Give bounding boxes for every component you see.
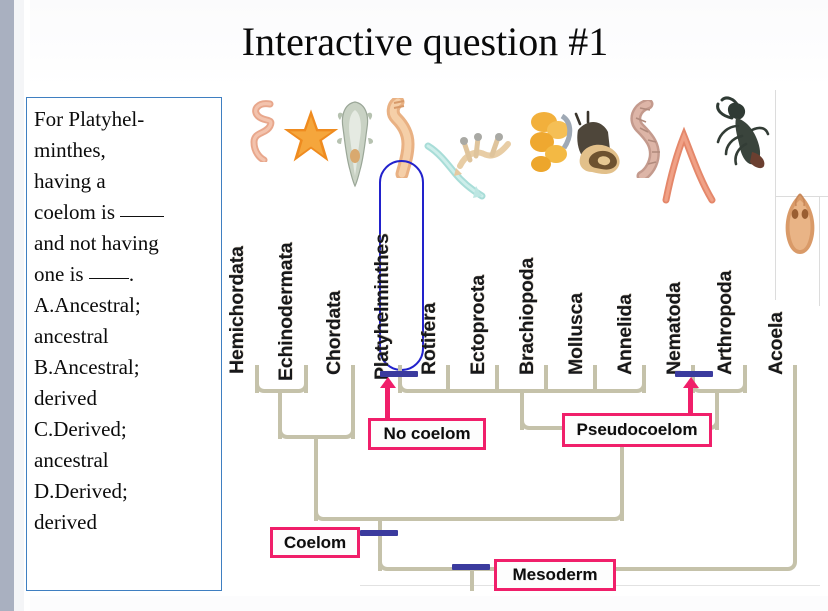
node-b-stem xyxy=(314,439,318,521)
root-stem-mesoderm xyxy=(470,571,474,591)
arrow-shaft-no-coelom xyxy=(385,386,390,418)
node-d-crossbar xyxy=(701,389,737,393)
callout-mesoderm[interactable]: Mesoderm xyxy=(494,559,616,591)
node-f-crossbar xyxy=(324,517,614,521)
cladogram-branches xyxy=(0,0,828,611)
arrow-head-pseudocoelom xyxy=(683,377,699,388)
callout-pseudocoelom[interactable]: Pseudocoelom xyxy=(562,413,712,447)
callout-coelom[interactable]: Coelom xyxy=(270,527,360,558)
arrow-head-no-coelom xyxy=(380,377,396,388)
stem-acoela xyxy=(793,365,797,561)
tick-coelom xyxy=(360,530,398,536)
callout-no-coelom[interactable]: No coelom xyxy=(368,418,486,450)
corner-root-right xyxy=(786,560,797,571)
tick-mesoderm xyxy=(452,564,490,570)
slide-canvas: Interactive question #1 For Platyhel- mi… xyxy=(0,0,828,611)
